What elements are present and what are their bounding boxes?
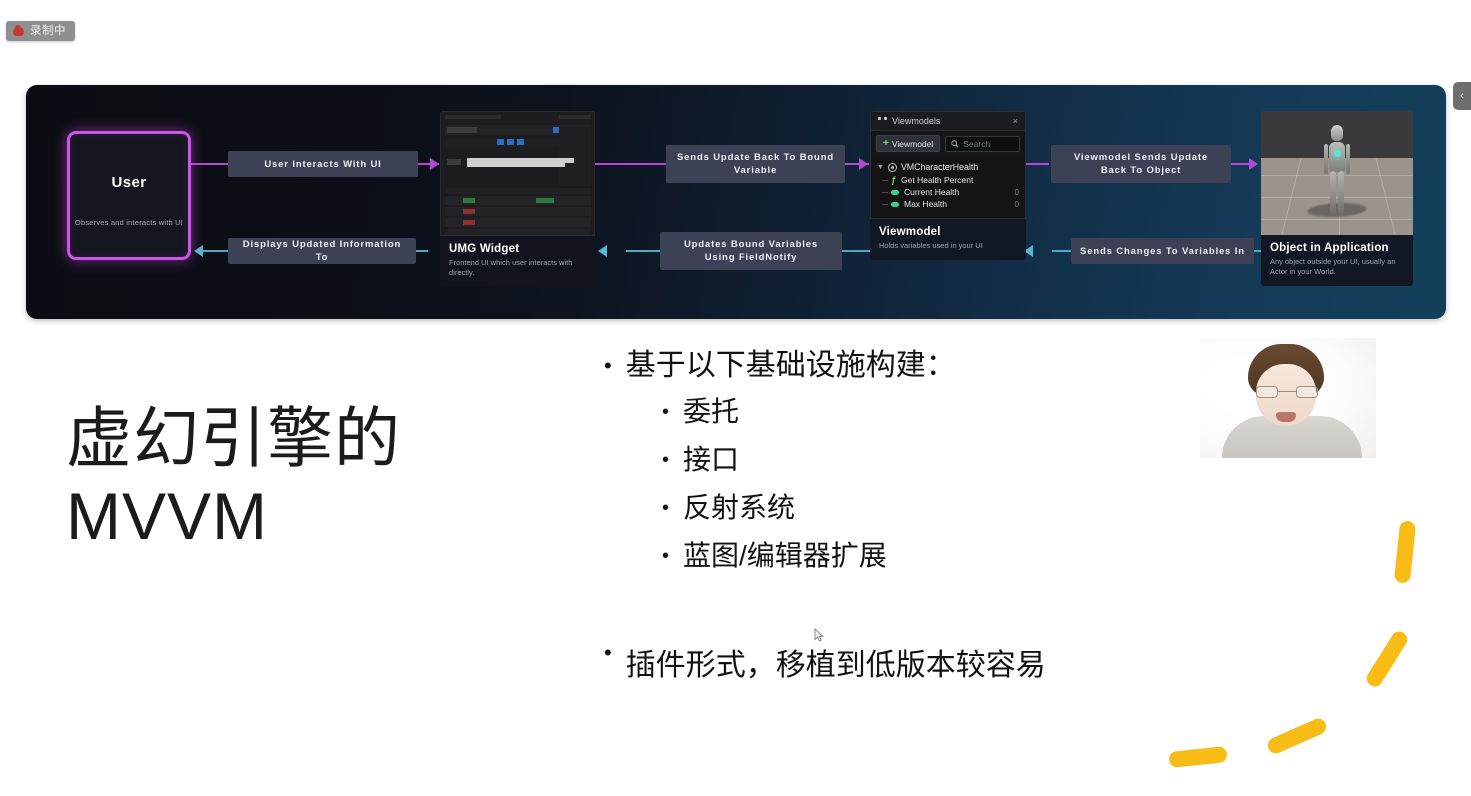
function-icon: ƒ [891,175,896,185]
edge-label-user-to-umg: User Interacts With UI [228,151,418,177]
edge-line-vm-to-obj [1026,163,1049,165]
tree-item-label: Get Health Percent [901,175,973,185]
viewmodel-tree: ▼ VMCharacterHealth ƒ Get Health Percent… [871,156,1025,218]
arrow-head-vm-to-umg [598,245,607,257]
edge-line-umg-to-vm [595,163,667,165]
viewmodels-tab-label: Viewmodels [892,116,940,126]
tree-item-value: 0 [1015,188,1019,197]
viewmodels-tab-icon [878,117,887,125]
variable-icon [891,190,899,195]
close-icon[interactable]: × [1013,116,1018,126]
chevron-left-icon: ‹ [1460,90,1464,102]
decorative-dash [1364,628,1410,689]
tree-item-value: 0 [1015,200,1019,209]
edge-line-obj-to-vm [1052,250,1072,252]
record-dot-icon [13,27,24,36]
diagram-node-user[interactable]: User Observes and interacts with UI [67,131,191,260]
bullet-glyph: • [662,484,669,532]
chevron-down-icon[interactable]: ▼ [877,164,884,171]
viewmodels-toolbar: + Viewmodel Search [871,131,1025,156]
mannequin-figure [1322,125,1352,217]
edge-line-vm-to-umg [626,250,662,252]
object-node-subtitle: Any object outside your UI, usually an A… [1270,257,1404,277]
bullet-glyph: • [662,532,669,580]
tree-row-item[interactable]: ƒ Get Health Percent [871,174,1025,186]
glasses-icon [1256,386,1318,398]
diagram-node-viewmodel[interactable]: Viewmodels × + Viewmodel [870,111,1026,260]
umg-node-title: UMG Widget [449,243,586,255]
bullet-list: • 基于以下基础设施构建： • 委托 • 接口 • 反射系统 • 蓝图/编辑器扩… [604,344,1304,580]
bullet-last: • 插件形式，移植到低版本较容易 [604,640,1046,684]
plus-icon: + [883,138,889,149]
search-placeholder: Search [963,139,990,149]
arrow-head-vm-to-obj [1249,158,1258,170]
user-node-subtitle: Observes and interacts with UI [70,218,188,227]
bullet-last-text: 插件形式，移植到低版本较容易 [626,640,1046,684]
tree-row-item[interactable]: Max Health 0 [871,198,1025,210]
add-viewmodel-label: Viewmodel [892,139,933,149]
edge-line-vm-to-umg-2 [840,250,870,252]
sub-bullet-text: 委托 [683,388,739,436]
umg-editor-screenshot [440,111,595,236]
decorative-dash [1265,716,1328,756]
slide-title-line2: MVVM [66,478,401,556]
viewmodel-node-title: Viewmodel [879,226,1017,238]
decorative-dash [1168,746,1227,768]
diagram-node-object-in-application[interactable]: Object in Application Any object outside… [1261,111,1413,286]
edge-label-vm-to-umg: Updates Bound Variables Using FieldNotif… [660,232,842,270]
sub-bullet-text: 接口 [683,436,739,484]
diagram-node-umg-widget[interactable]: UMG Widget Frontend UI which user intera… [440,111,595,287]
bullet-main-text: 基于以下基础设施构建： [626,344,956,388]
tree-row-root[interactable]: ▼ VMCharacterHealth [871,160,1025,174]
viewmodels-tab[interactable]: Viewmodels × [871,112,1025,131]
sub-bullet-text: 蓝图/编辑器扩展 [683,532,887,580]
slide-title: 虚幻引擎的 MVVM [66,400,401,556]
sub-bullet-item: • 蓝图/编辑器扩展 [662,532,1304,580]
edge-label-umg-to-user: Displays Updated Information To [228,238,416,264]
slide-title-line1: 虚幻引擎的 [66,400,401,478]
edge-label-vm-to-obj: Viewmodel Sends Update Back To Object [1051,145,1231,183]
tree-root-label: VMCharacterHealth [901,162,978,172]
bullet-glyph: • [604,640,612,684]
search-icon [951,140,959,148]
bullet-glyph: • [662,436,669,484]
arrow-head-umg-to-user [194,245,203,257]
viewmodel-node-subtitle: Holds variables used in your UI [879,241,1017,251]
mvvm-diagram: User Interacts With UI Sends Update Back… [26,85,1446,319]
variable-icon [891,202,899,207]
bullet-main: • 基于以下基础设施构建： [604,344,1304,388]
edge-label-umg-to-vm: Sends Update Back To Bound Variable [666,145,845,183]
mouse-cursor-icon [814,628,824,642]
add-viewmodel-button[interactable]: + Viewmodel [876,135,940,152]
recording-label: 录制中 [30,21,66,41]
user-node-title: User [112,174,147,191]
arrow-head-umg-to-vm [859,158,868,170]
edge-label-obj-to-vm: Sends Changes To Variables In [1071,238,1254,264]
tree-item-label: Max Health [904,199,947,209]
decorative-dash [1394,520,1416,583]
object-node-title: Object in Application [1270,242,1404,254]
slide-screen: 录制中 ‹ User [0,0,1471,796]
viewport-screenshot [1261,111,1413,235]
tree-item-label: Current Health [904,187,959,197]
recording-badge[interactable]: 录制中 [6,21,75,41]
panel-collapse-button[interactable]: ‹ [1453,82,1471,110]
bullet-glyph: • [604,344,612,388]
sub-bullet-item: • 反射系统 [662,484,1304,532]
arrow-head-user-to-umg [430,158,439,170]
viewmodel-search-input[interactable]: Search [945,136,1020,152]
sub-bullet-text: 反射系统 [683,484,795,532]
tree-row-item[interactable]: Current Health 0 [871,186,1025,198]
umg-node-subtitle: Frontend UI which user interacts with di… [449,258,586,278]
bullet-glyph: • [662,388,669,436]
webcam-overlay[interactable] [1200,338,1376,458]
viewmodels-panel[interactable]: Viewmodels × + Viewmodel [870,111,1026,219]
class-icon [888,163,897,172]
